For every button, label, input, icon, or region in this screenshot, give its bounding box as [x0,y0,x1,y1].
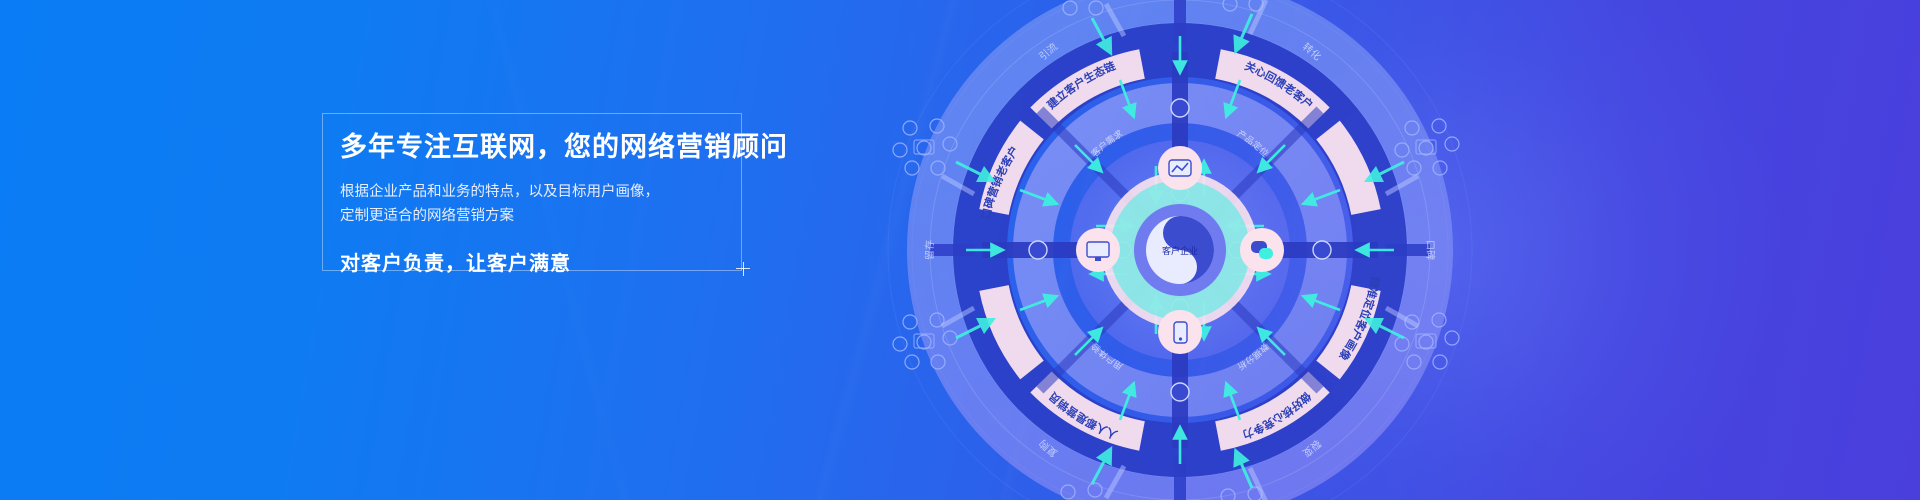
hub-icon-mobile [1158,310,1202,354]
hub-icon-chat [1240,228,1284,272]
marketing-wheel-diagram: 客户企业 [870,0,1490,500]
headline: 多年专注互联网，您的网络营销顾问 [340,131,740,165]
hub-icon-monitor [1076,228,1120,272]
subtext-line-2: 定制更适合的网络营销方案 [340,205,740,229]
banner-copy: 多年专注互联网，您的网络营销顾问 根据企业产品和业务的特点，以及目标用户画像， … [340,131,740,276]
subtext-line-1: 根据企业产品和业务的特点，以及目标用户画像， [340,181,740,205]
center-label: 客户企业 [1162,245,1198,256]
marketing-banner: 多年专注互联网，您的网络营销顾问 根据企业产品和业务的特点，以及目标用户画像， … [0,0,1920,500]
slogan: 对客户负责，让客户满意 [340,247,740,276]
hub-icon-chart [1158,146,1202,190]
subtext: 根据企业产品和业务的特点，以及目标用户画像， 定制更适合的网络营销方案 [340,181,740,229]
